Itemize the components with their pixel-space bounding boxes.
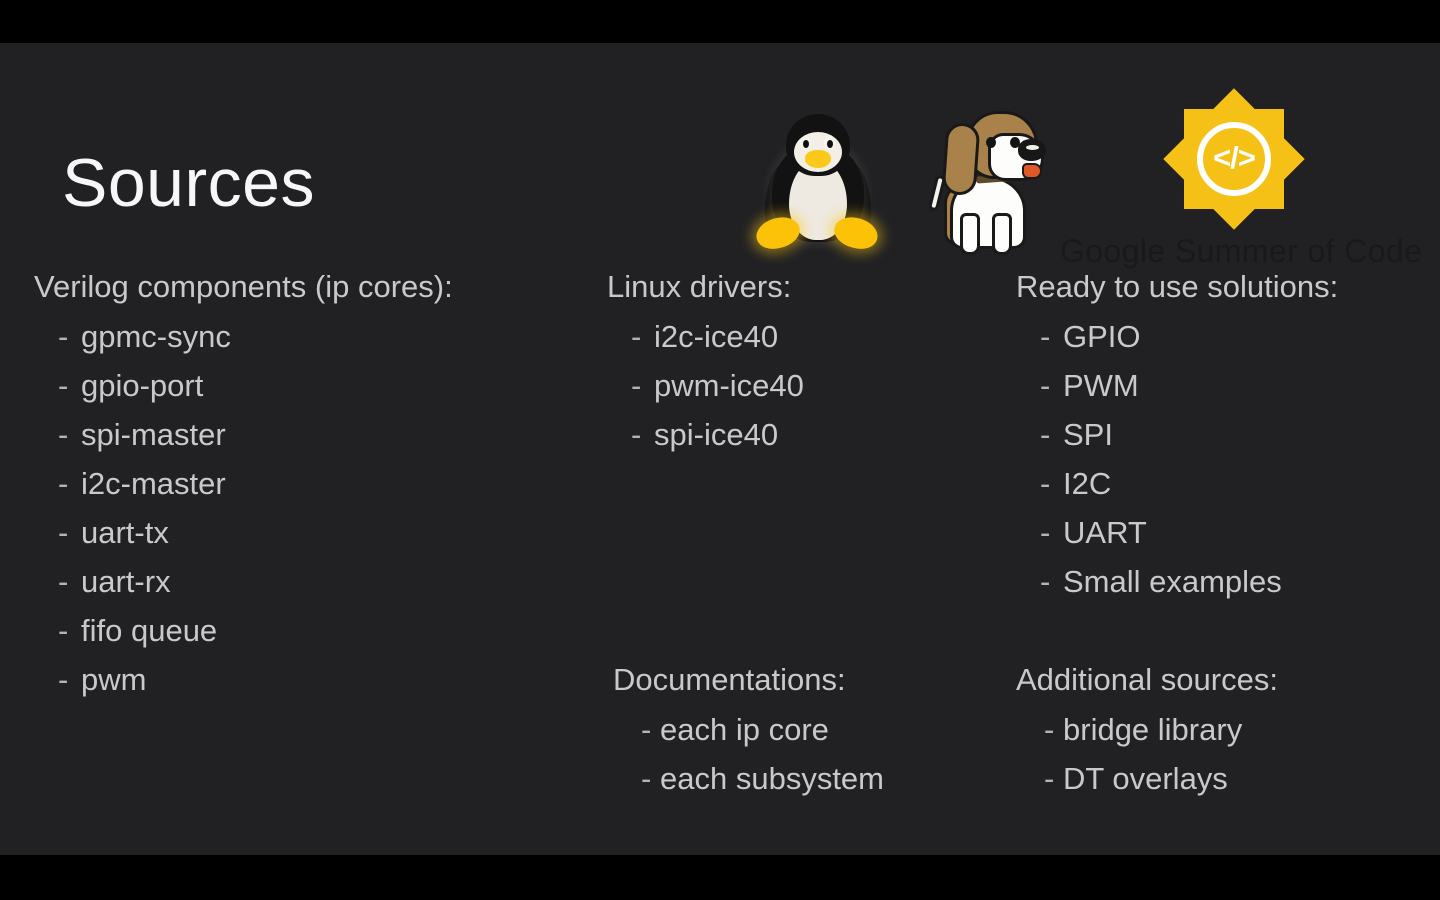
- list-additional-sources: -bridge library -DT overlays: [1016, 714, 1436, 812]
- group-heading-ready-solutions: Ready to use solutions:: [1016, 271, 1436, 302]
- list-item: -uart-tx: [34, 517, 594, 566]
- bullet-dash: -: [613, 763, 660, 794]
- list-item: -bridge library: [1016, 714, 1436, 763]
- list-item-label: pwm-ice40: [654, 370, 804, 401]
- letterbox-bar-bottom: [0, 855, 1440, 900]
- code-brackets-icon: </>: [1197, 122, 1271, 196]
- bullet-dash: -: [1016, 419, 1063, 450]
- list-item-label: pwm: [81, 664, 146, 695]
- list-item: -spi-ice40: [607, 419, 1007, 468]
- bullet-dash: -: [34, 321, 81, 352]
- list-item: -PWM: [1016, 370, 1436, 419]
- list-item: -DT overlays: [1016, 763, 1436, 812]
- list-item: -GPIO: [1016, 321, 1436, 370]
- bullet-dash: -: [34, 517, 81, 548]
- list-item: -gpio-port: [34, 370, 594, 419]
- list-verilog-components: -gpmc-sync -gpio-port -spi-master -i2c-m…: [34, 321, 594, 713]
- list-item: -I2C: [1016, 468, 1436, 517]
- column-linux-drivers: Linux drivers: -i2c-ice40 -pwm-ice40 -sp…: [607, 271, 1007, 468]
- list-item-label: spi-master: [81, 419, 226, 450]
- bullet-dash: -: [1016, 517, 1063, 548]
- dog-ear-left: [942, 122, 981, 196]
- dog-leg-left: [960, 213, 980, 255]
- tux-pupil-right: [827, 140, 833, 148]
- beagleboard-dog-logo-icon: [918, 101, 1058, 261]
- bullet-dash: -: [1016, 714, 1063, 745]
- list-item-label: each ip core: [660, 714, 829, 745]
- tux-beak: [805, 150, 831, 168]
- list-item-label: Small examples: [1063, 566, 1282, 597]
- list-item-label: bridge library: [1063, 714, 1242, 745]
- list-documentations: -each ip core -each subsystem: [613, 714, 1013, 812]
- linux-tux-logo-icon: [758, 108, 878, 253]
- column-documentations: Documentations: -each ip core -each subs…: [613, 664, 1013, 812]
- list-item: -pwm-ice40: [607, 370, 1007, 419]
- list-ready-solutions: -GPIO -PWM -SPI -I2C -UART -Small exampl…: [1016, 321, 1436, 615]
- list-item: -fifo queue: [34, 615, 594, 664]
- bullet-dash: -: [1016, 566, 1063, 597]
- list-item-label: each subsystem: [660, 763, 884, 794]
- list-item-label: GPIO: [1063, 321, 1141, 352]
- dog-eye-right: [1010, 137, 1020, 148]
- bullet-dash: -: [607, 370, 654, 401]
- bullet-dash: -: [34, 468, 81, 499]
- list-item: -gpmc-sync: [34, 321, 594, 370]
- list-item-label: fifo queue: [81, 615, 217, 646]
- bullet-dash: -: [34, 664, 81, 695]
- list-item-label: PWM: [1063, 370, 1139, 401]
- group-heading-documentations: Documentations:: [613, 664, 1013, 695]
- presentation-frame: Sources: [0, 0, 1440, 900]
- bullet-dash: -: [1016, 370, 1063, 401]
- group-heading-verilog: Verilog components (ip cores):: [34, 271, 594, 302]
- list-item: -pwm: [34, 664, 594, 713]
- list-item: -i2c-master: [34, 468, 594, 517]
- logo-strip: </> Google Summer of Code: [740, 53, 1440, 253]
- gsoc-sun-mark: </>: [1168, 93, 1300, 225]
- list-item-label: i2c-ice40: [654, 321, 778, 352]
- list-item: -uart-rx: [34, 566, 594, 615]
- list-item: -Small examples: [1016, 566, 1436, 615]
- list-item-label: I2C: [1063, 468, 1111, 499]
- list-item: -SPI: [1016, 419, 1436, 468]
- list-item-label: uart-rx: [81, 566, 171, 597]
- column-ready-solutions: Ready to use solutions: -GPIO -PWM -SPI …: [1016, 271, 1436, 615]
- list-item: -spi-master: [34, 419, 594, 468]
- bullet-dash: -: [607, 321, 654, 352]
- list-linux-drivers: -i2c-ice40 -pwm-ice40 -spi-ice40: [607, 321, 1007, 468]
- list-item-label: DT overlays: [1063, 763, 1228, 794]
- list-item-label: SPI: [1063, 419, 1113, 450]
- list-item: -each subsystem: [613, 763, 1013, 812]
- bullet-dash: -: [34, 370, 81, 401]
- bullet-dash: -: [1016, 321, 1063, 352]
- tux-pupil-left: [803, 140, 809, 148]
- letterbox-bar-top: [0, 0, 1440, 43]
- bullet-dash: -: [1016, 763, 1063, 794]
- dog-nose: [1018, 139, 1046, 161]
- bullet-dash: -: [613, 714, 660, 745]
- list-item-label: i2c-master: [81, 468, 226, 499]
- list-item: -UART: [1016, 517, 1436, 566]
- list-item: -i2c-ice40: [607, 321, 1007, 370]
- slide-canvas: Sources: [0, 43, 1440, 855]
- column-verilog-components: Verilog components (ip cores): -gpmc-syn…: [34, 271, 594, 713]
- dog-tongue: [1022, 163, 1042, 179]
- list-item-label: gpmc-sync: [81, 321, 231, 352]
- bullet-dash: -: [607, 419, 654, 450]
- list-item: -each ip core: [613, 714, 1013, 763]
- dog-eye-left: [986, 137, 996, 148]
- slide-title: Sources: [62, 149, 315, 217]
- column-additional-sources: Additional sources: -bridge library -DT …: [1016, 664, 1436, 812]
- list-item-label: spi-ice40: [654, 419, 778, 450]
- bullet-dash: -: [34, 615, 81, 646]
- bullet-dash: -: [1016, 468, 1063, 499]
- list-item-label: uart-tx: [81, 517, 169, 548]
- bullet-dash: -: [34, 419, 81, 450]
- google-summer-of-code-logo-icon: </> Google Summer of Code: [1060, 93, 1410, 273]
- gsoc-wordmark: Google Summer of Code: [1060, 233, 1410, 270]
- bullet-dash: -: [34, 566, 81, 597]
- list-item-label: UART: [1063, 517, 1147, 548]
- list-item-label: gpio-port: [81, 370, 203, 401]
- group-heading-additional-sources: Additional sources:: [1016, 664, 1436, 695]
- group-heading-linux-drivers: Linux drivers:: [607, 271, 1007, 302]
- dog-nose-highlight: [1026, 145, 1039, 150]
- dog-leg-right: [992, 213, 1012, 255]
